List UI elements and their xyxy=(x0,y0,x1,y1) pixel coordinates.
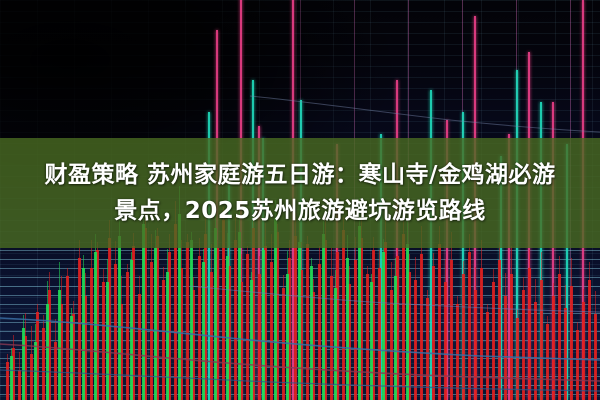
thumbnail-image: 财盈策略 苏州家庭游五日游：寒山寺/金鸡湖必游 景点，2025苏州旅游避坑游览路… xyxy=(0,0,600,400)
title-overlay-band: 财盈策略 苏州家庭游五日游：寒山寺/金鸡湖必游 景点，2025苏州旅游避坑游览路… xyxy=(0,138,600,248)
title-line-1: 财盈策略 苏州家庭游五日游：寒山寺/金鸡湖必游 xyxy=(45,157,556,193)
ma-line-top xyxy=(250,96,600,132)
ma-line-red xyxy=(0,344,600,381)
title-line-2: 景点，2025苏州旅游避坑游览路线 xyxy=(114,193,486,229)
ma-line-blue xyxy=(0,318,600,360)
ma-line-upper xyxy=(190,286,600,312)
ma-line-blue-2 xyxy=(0,370,600,391)
